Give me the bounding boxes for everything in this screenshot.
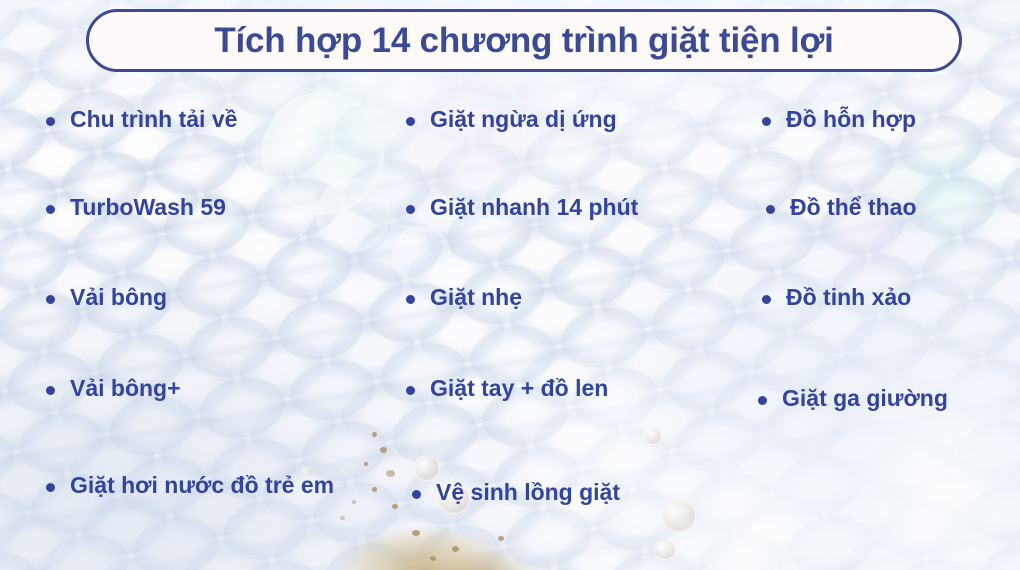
list-item[interactable]: Vệ sinh lồng giặt [412, 479, 620, 506]
list-item[interactable]: Giặt ngừa dị ứng [406, 106, 617, 133]
bullet-dot-icon [46, 386, 55, 395]
list-item[interactable]: Giặt nhanh 14 phút [406, 194, 638, 221]
bullet-dot-icon [46, 483, 55, 492]
list-item-label: Giặt nhanh 14 phút [430, 194, 638, 221]
list-item-label: Đồ thể thao [790, 194, 917, 221]
list-item-label: Đồ tinh xảo [786, 284, 911, 311]
bullet-dot-icon [46, 295, 55, 304]
bullet-dot-icon [766, 205, 775, 214]
list-item-label: Giặt nhẹ [430, 284, 522, 311]
list-item-label: Giặt tay + đồ len [430, 375, 608, 402]
list-item-label: Vải bông [70, 284, 167, 311]
bullet-dot-icon [406, 117, 415, 126]
title-banner: Tích hợp 14 chương trình giặt tiện lợi [86, 9, 962, 72]
list-item-label: Giặt hơi nước đồ trẻ em [70, 472, 334, 499]
bullet-dot-icon [46, 205, 55, 214]
page-title: Tích hợp 14 chương trình giặt tiện lợi [214, 23, 833, 58]
list-item-label: Vệ sinh lồng giặt [436, 479, 620, 506]
poster-canvas: Tích hợp 14 chương trình giặt tiện lợi C… [0, 0, 1020, 570]
list-item[interactable]: TurboWash 59 [46, 194, 226, 221]
list-item[interactable]: Giặt nhẹ [406, 284, 522, 311]
list-item[interactable]: Giặt ga giường [758, 385, 948, 412]
list-item[interactable]: Đồ thể thao [766, 194, 917, 221]
list-item-label: Chu trình tải về [70, 106, 237, 133]
list-item[interactable]: Vải bông+ [46, 375, 181, 402]
bullet-dot-icon [46, 117, 55, 126]
bullet-dot-icon [762, 117, 771, 126]
bullet-dot-icon [406, 386, 415, 395]
list-item[interactable]: Chu trình tải về [46, 106, 237, 133]
bullet-dot-icon [762, 295, 771, 304]
list-item[interactable]: Vải bông [46, 284, 167, 311]
list-item-label: Giặt ga giường [782, 385, 948, 412]
list-item[interactable]: Giặt tay + đồ len [406, 375, 608, 402]
list-item[interactable]: Đồ hỗn hợp [762, 106, 916, 133]
list-item[interactable]: Đồ tinh xảo [762, 284, 911, 311]
program-list: Chu trình tải về TurboWash 59 Vải bông V… [0, 0, 1020, 570]
bullet-dot-icon [406, 205, 415, 214]
list-item-label: Vải bông+ [70, 375, 181, 402]
bullet-dot-icon [406, 295, 415, 304]
list-item-label: Đồ hỗn hợp [786, 106, 916, 133]
bullet-dot-icon [412, 490, 421, 499]
bullet-dot-icon [758, 396, 767, 405]
list-item-label: Giặt ngừa dị ứng [430, 106, 617, 133]
list-item[interactable]: Giặt hơi nước đồ trẻ em [46, 472, 356, 499]
list-item-label: TurboWash 59 [70, 194, 226, 221]
